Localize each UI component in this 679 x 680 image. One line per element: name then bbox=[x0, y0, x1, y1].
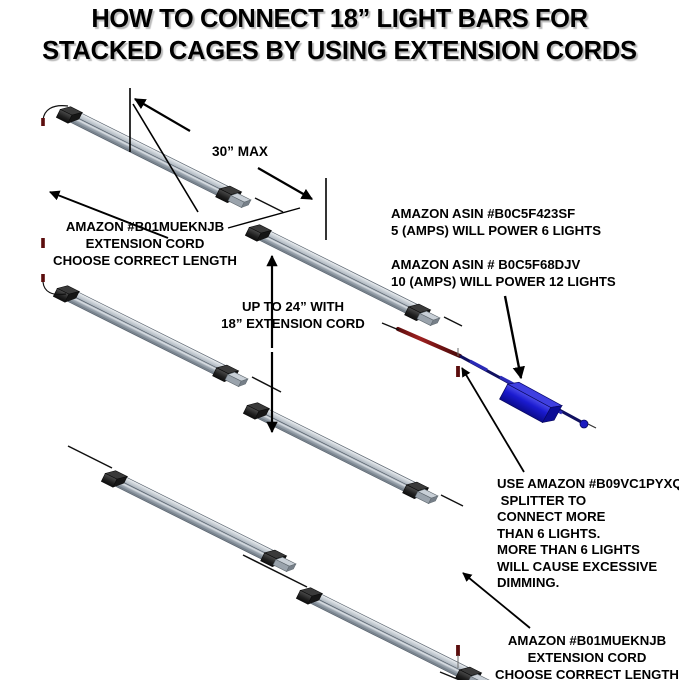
light-bar bbox=[296, 584, 492, 680]
dim-arrow-30max-lower bbox=[258, 168, 312, 199]
extension-cord-sleeve bbox=[41, 118, 45, 126]
extension-cord-sleeve bbox=[456, 366, 460, 377]
light-bar-lead-cord bbox=[252, 377, 281, 392]
light-bar-lead-cord bbox=[444, 317, 462, 326]
light-bar bbox=[101, 467, 297, 575]
splitter-plug-end bbox=[580, 420, 596, 428]
callout-splitter: USE AMAZON #B09VC1PYXQ SPLITTER TO CONNE… bbox=[497, 476, 679, 592]
dim-arrow-30max-upper bbox=[135, 99, 190, 131]
callout-asin-5amp: AMAZON ASIN #B0C5F423SF 5 (AMPS) WILL PO… bbox=[391, 205, 671, 239]
extension-cord-sleeve bbox=[41, 274, 45, 282]
extension-cord-sleeve bbox=[41, 238, 45, 248]
callout-extension-cord-left: AMAZON #B01MUEKNJB EXTENSION CORD CHOOSE… bbox=[50, 218, 240, 269]
light-bar-lead-cord bbox=[68, 446, 112, 468]
callout-extension-cord-bottom: AMAZON #B01MUEKNJB EXTENSION CORD CHOOSE… bbox=[492, 632, 679, 680]
leader-splitter bbox=[505, 296, 521, 378]
dimension-label-stack-spacing: UP TO 24” WITH 18” EXTENSION CORD bbox=[213, 298, 373, 332]
extension-cord-diagonal-tip bbox=[382, 323, 399, 330]
light-bar-lead-cord bbox=[255, 198, 283, 212]
diagram-page: HOW TO CONNECT 18” LIGHT BARS FOR STACKE… bbox=[0, 0, 679, 680]
dimension-label-max-spacing: 30” MAX bbox=[195, 143, 285, 160]
callout-asin-10amp: AMAZON ASIN # B0C5F68DJV 10 (AMPS) WILL … bbox=[391, 256, 679, 290]
extension-cord-diagonal bbox=[398, 329, 460, 356]
splitter-body bbox=[500, 378, 562, 427]
extension-cord-sleeve bbox=[456, 645, 460, 656]
